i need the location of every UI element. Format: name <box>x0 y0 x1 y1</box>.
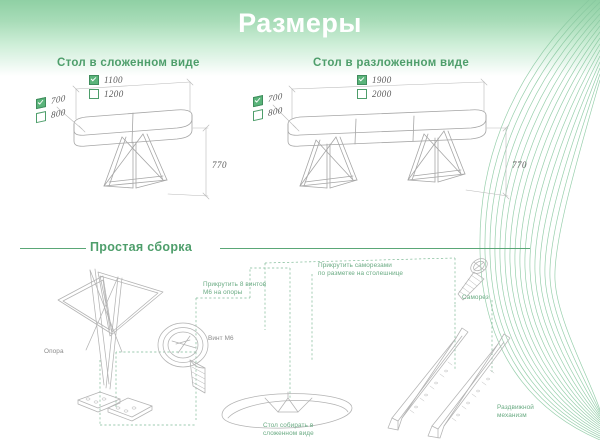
checkbox-unchecked[interactable] <box>357 89 367 99</box>
connector-lines <box>100 258 492 425</box>
option-label: 800 <box>51 107 66 120</box>
checkbox-checked[interactable] <box>357 75 367 85</box>
unfolded-depth-options[interactable]: 700 800 <box>253 90 283 124</box>
option-label: 700 <box>51 93 66 106</box>
assembly-title: Простая сборка <box>90 240 192 254</box>
divider-right <box>220 248 530 249</box>
option-label: 1100 <box>104 75 123 85</box>
option-label: 1200 <box>104 89 124 99</box>
label-screw: Саморез <box>462 294 489 302</box>
unfolded-height-value: 770 <box>512 160 527 170</box>
label-mechanism: Раздвижной механизм <box>497 404 534 420</box>
label-leg: Опора <box>44 348 64 356</box>
checkbox-unchecked[interactable] <box>89 89 99 99</box>
unfolded-width-options[interactable]: 1900 2000 <box>357 74 392 102</box>
label-bolt: Винт М6 <box>208 335 234 343</box>
option-label: 2000 <box>372 89 392 99</box>
checkbox-checked[interactable] <box>89 75 99 85</box>
section-title-folded: Стол в сложенном виде <box>57 57 200 69</box>
option-row: 1900 <box>357 74 392 86</box>
option-label: 800 <box>268 105 283 118</box>
folded-width-options[interactable]: 1100 1200 <box>89 74 124 102</box>
label-fold-note: Стол собирать в сложенном виде <box>263 422 314 438</box>
page-root: Размеры Стол <box>0 0 600 440</box>
checkbox-checked[interactable] <box>253 95 263 107</box>
divider-left <box>20 248 86 249</box>
folded-depth-options[interactable]: 700 800 <box>36 92 66 126</box>
option-row: 1200 <box>89 88 124 100</box>
label-screw-instruction: Прикрутить саморезами по разметке на сто… <box>318 262 403 278</box>
assembly-section-header: Простая сборка <box>20 240 530 256</box>
option-label: 1900 <box>372 75 392 85</box>
folded-height-value: 770 <box>212 160 227 170</box>
page-title: Размеры <box>0 8 600 39</box>
label-bolt-instruction: Прикрутить 8 винтов М6 на опоры <box>203 281 266 297</box>
option-row: 1100 <box>89 74 124 86</box>
checkbox-unchecked[interactable] <box>253 109 263 121</box>
option-label: 700 <box>268 91 283 104</box>
section-title-unfolded: Стол в разложенном виде <box>313 57 469 69</box>
option-row: 2000 <box>357 88 392 100</box>
checkbox-unchecked[interactable] <box>36 111 46 123</box>
checkbox-checked[interactable] <box>36 97 46 109</box>
